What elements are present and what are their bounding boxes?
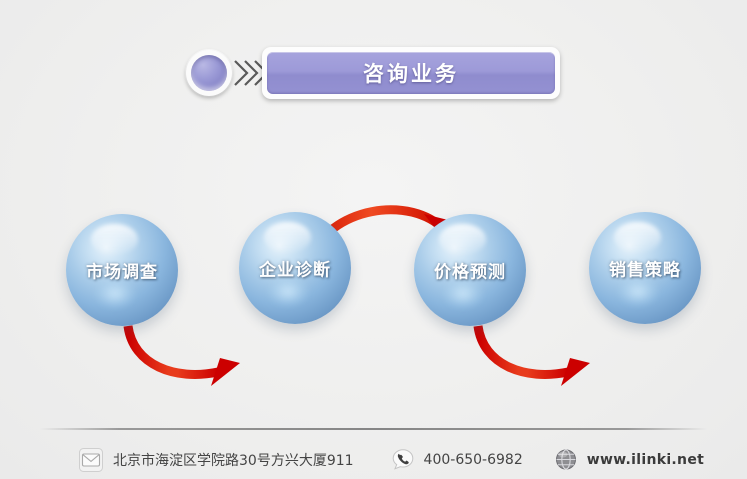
process-flow-diagram: 市场调查 企业诊断 价格预测 销售策略 bbox=[0, 150, 747, 400]
globe-icon bbox=[554, 448, 578, 472]
flow-step-4-label: 销售策略 bbox=[589, 256, 701, 281]
footer-phone-text: 400-650-6982 bbox=[424, 452, 523, 468]
footer-divider bbox=[40, 428, 707, 430]
flow-step-4[interactable]: 销售策略 bbox=[589, 212, 701, 324]
envelope-icon bbox=[78, 447, 104, 473]
page-header: 咨询业务 bbox=[186, 47, 560, 99]
page-title: 咨询业务 bbox=[363, 58, 459, 88]
badge-highlight bbox=[196, 59, 222, 77]
footer-website-text: www.ilinki.net bbox=[587, 452, 704, 468]
telephone-icon bbox=[391, 448, 415, 472]
flow-step-3-label: 价格预测 bbox=[414, 258, 526, 283]
page-footer: 北京市海淀区学院路30号方兴大厦911 400-650-6982 www.ili… bbox=[0, 440, 747, 479]
flow-step-2-label: 企业诊断 bbox=[239, 256, 351, 281]
footer-website[interactable]: www.ilinki.net bbox=[554, 448, 704, 472]
connector-arrow-3 bbox=[478, 326, 590, 386]
flow-step-1[interactable]: 市场调查 bbox=[66, 214, 178, 326]
flow-step-1-label: 市场调查 bbox=[66, 258, 178, 283]
header-title-bar-inner: 咨询业务 bbox=[267, 52, 555, 94]
flow-step-3[interactable]: 价格预测 bbox=[414, 214, 526, 326]
header-title-bar: 咨询业务 bbox=[262, 47, 560, 99]
flow-step-2[interactable]: 企业诊断 bbox=[239, 212, 351, 324]
footer-address: 北京市海淀区学院路30号方兴大厦911 bbox=[78, 447, 354, 473]
connector-arrow-1 bbox=[128, 326, 240, 386]
circle-badge-icon bbox=[186, 50, 232, 96]
footer-phone: 400-650-6982 bbox=[391, 448, 523, 472]
footer-address-text: 北京市海淀区学院路30号方兴大厦911 bbox=[113, 450, 354, 470]
